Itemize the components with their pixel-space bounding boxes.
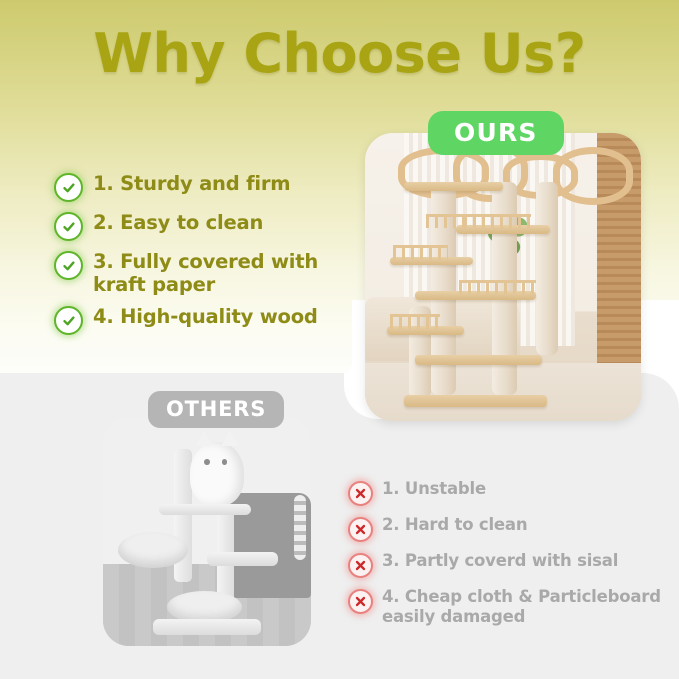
list-item-label: 1. Sturdy and firm	[93, 172, 290, 195]
hoop-top	[553, 147, 633, 204]
rail	[459, 280, 536, 295]
ours-room-scene	[365, 133, 641, 421]
list-item-label: 3. Partly coverd with sisal	[382, 551, 618, 571]
x-circle-icon	[348, 481, 373, 506]
others-drawbacks-list: 1. Unstable 2. Hard to clean 3. Partly c…	[348, 479, 668, 636]
platform	[159, 504, 251, 515]
check-circle-icon	[54, 251, 83, 280]
list-item: 3. Partly coverd with sisal	[348, 551, 668, 578]
others-badge: OTHERS	[148, 391, 284, 428]
x-circle-icon	[348, 517, 373, 542]
list-item-label: 2. Hard to clean	[382, 515, 527, 535]
base-platform	[404, 395, 548, 407]
list-item-label: 4. High-quality wood	[93, 305, 318, 328]
page-title: Why Choose Us?	[0, 22, 679, 85]
platform	[207, 552, 278, 566]
infographic-root: Why Choose Us? 1. Sturdy and firm 2. Eas…	[0, 0, 679, 679]
list-item: 4. High-quality wood	[54, 305, 354, 335]
list-item: 4. Cheap cloth & Particleboard easily da…	[348, 587, 668, 627]
list-item-label: 1. Unstable	[382, 479, 486, 499]
check-circle-icon	[54, 173, 83, 202]
list-item: 1. Unstable	[348, 479, 668, 506]
rail	[464, 214, 530, 229]
list-item: 3. Fully covered with kraft paper	[54, 250, 354, 296]
x-circle-icon	[348, 589, 373, 614]
others-product-photo	[103, 417, 311, 646]
list-item: 1. Sturdy and firm	[54, 172, 354, 202]
others-room-scene	[103, 417, 311, 646]
hammock-bowl	[118, 532, 189, 569]
base-platform	[153, 619, 261, 635]
rail	[393, 245, 448, 260]
list-item-label: 2. Easy to clean	[93, 211, 263, 234]
cat-eye	[222, 459, 227, 465]
platform	[404, 182, 503, 191]
list-item-label: 3. Fully covered with kraft paper	[93, 250, 354, 296]
scratch-post	[536, 182, 558, 355]
rail	[426, 214, 470, 229]
ours-badge: OURS	[428, 111, 564, 155]
list-item-label: 4. Cheap cloth & Particleboard easily da…	[382, 587, 668, 627]
check-circle-icon	[54, 212, 83, 241]
x-circle-icon	[348, 553, 373, 578]
rail	[390, 314, 440, 329]
cat	[190, 442, 244, 506]
check-circle-icon	[54, 306, 83, 335]
ours-product-photo	[365, 133, 641, 421]
ours-benefits-list: 1. Sturdy and firm 2. Easy to clean 3. F…	[54, 172, 354, 344]
list-item: 2. Hard to clean	[348, 515, 668, 542]
cat-eye	[204, 459, 209, 465]
list-item: 2. Easy to clean	[54, 211, 354, 241]
platform	[415, 355, 542, 365]
